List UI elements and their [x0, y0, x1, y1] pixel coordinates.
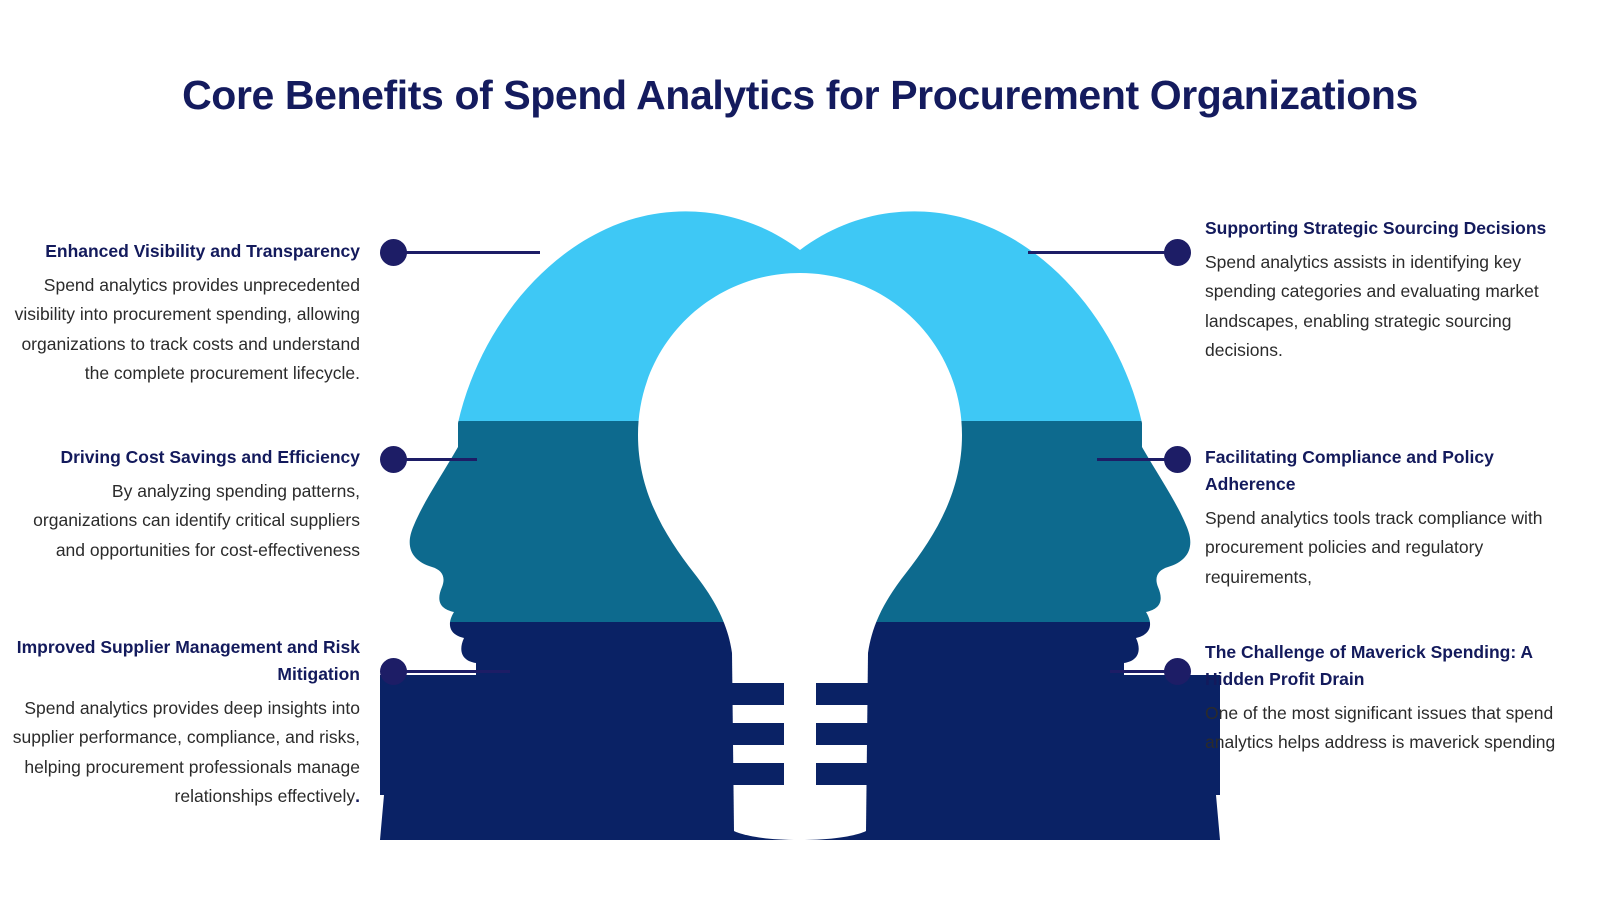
benefit-block-right-3: The Challenge of Maverick Spending: A Hi…: [1205, 639, 1557, 758]
benefit-heading: Supporting Strategic Sourcing Decisions: [1205, 215, 1557, 242]
connector-line-left-3: [405, 670, 510, 673]
connector-dot-right-3: [1164, 658, 1191, 685]
connector-line-left-1: [405, 251, 540, 254]
connector-dot-right-1: [1164, 239, 1191, 266]
band-teal: [380, 421, 1220, 622]
connector-line-right-1: [1028, 251, 1166, 254]
benefit-heading: Driving Cost Savings and Efficiency: [8, 444, 360, 471]
benefit-body: By analyzing spending patterns, organiza…: [8, 477, 360, 565]
connector-dot-right-2: [1164, 446, 1191, 473]
connector-dot-left-2: [380, 446, 407, 473]
connector-line-right-2: [1097, 458, 1167, 461]
head-lightbulb-illustration: [380, 195, 1220, 840]
benefit-heading: Improved Supplier Management and Risk Mi…: [8, 634, 360, 688]
benefit-block-left-1: Enhanced Visibility and Transparency Spe…: [8, 238, 360, 388]
head-silhouettes: [380, 195, 1220, 840]
band-light-blue: [380, 195, 1220, 421]
benefit-body-period: .: [355, 786, 360, 806]
benefit-block-left-2: Driving Cost Savings and Efficiency By a…: [8, 444, 360, 565]
benefit-heading: Facilitating Compliance and Policy Adher…: [1205, 444, 1557, 498]
benefit-body: One of the most significant issues that …: [1205, 699, 1557, 757]
band-dark-navy: [380, 622, 1220, 840]
benefit-body-text: Spend analytics provides deep insights i…: [13, 698, 360, 806]
connector-line-right-3: [1110, 670, 1167, 673]
benefit-body: Spend analytics provides deep insights i…: [8, 694, 360, 811]
benefit-block-right-1: Supporting Strategic Sourcing Decisions …: [1205, 215, 1557, 365]
benefit-heading: Enhanced Visibility and Transparency: [8, 238, 360, 265]
benefit-body: Spend analytics tools track compliance w…: [1205, 504, 1557, 592]
infographic-canvas: Core Benefits of Spend Analytics for Pro…: [0, 0, 1600, 900]
benefit-body: Spend analytics provides unprecedented v…: [8, 271, 360, 388]
benefit-block-left-3: Improved Supplier Management and Risk Mi…: [8, 634, 360, 811]
connector-dot-left-3: [380, 658, 407, 685]
connector-dot-left-1: [380, 239, 407, 266]
page-title: Core Benefits of Spend Analytics for Pro…: [0, 72, 1600, 119]
benefit-block-right-2: Facilitating Compliance and Policy Adher…: [1205, 444, 1557, 592]
benefit-body: Spend analytics assists in identifying k…: [1205, 248, 1557, 365]
benefit-heading: The Challenge of Maverick Spending: A Hi…: [1205, 639, 1557, 693]
connector-line-left-2: [405, 458, 477, 461]
